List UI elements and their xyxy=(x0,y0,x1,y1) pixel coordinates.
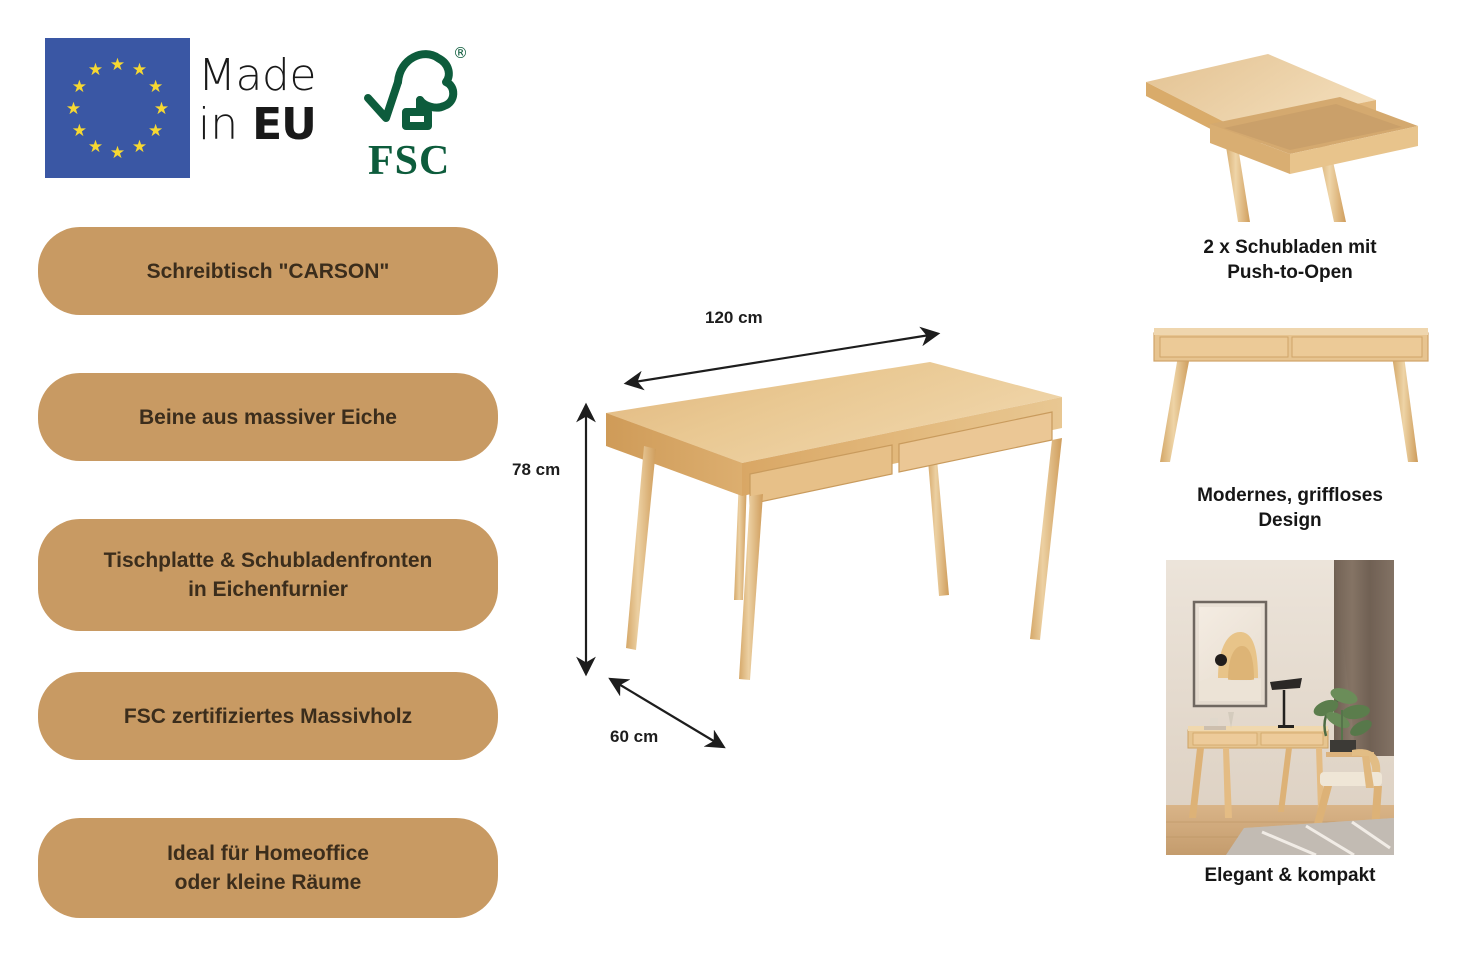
feature-pill-text: Beine aus massiver Eiche xyxy=(139,403,397,432)
open-drawer-detail-photo xyxy=(1140,42,1440,227)
feature-pill: Tischplatte & Schubladenfrontenin Eichen… xyxy=(38,519,498,631)
feature-card-caption: Modernes, griffloses Design xyxy=(1140,483,1440,533)
feature-pill-line: Tischplatte & Schubladenfronten xyxy=(104,546,433,575)
feature-pill-line: Schreibtisch "CARSON" xyxy=(147,257,390,286)
feature-pill-line: Beine aus massiver Eiche xyxy=(139,403,397,432)
feature-pill-line: in Eichenfurnier xyxy=(104,575,433,604)
infographic-page: ★★★★★★★★★★★★ Made in EU ® FSC Schreibtis… xyxy=(0,0,1460,962)
dimension-label-width: 120 cm xyxy=(705,308,763,328)
dimension-diagram: 120 cm 78 cm 60 cm xyxy=(500,290,1100,770)
feature-photo-column: 2 x Schubladen mit Push-to-Open xyxy=(1140,0,1460,962)
feature-pill-text: Tischplatte & Schubladenfrontenin Eichen… xyxy=(104,546,433,604)
feature-pill-text: Schreibtisch "CARSON" xyxy=(147,257,390,286)
room-lifestyle-photo xyxy=(1166,560,1394,855)
feature-pill: Ideal für Homeofficeoder kleine Räume xyxy=(38,818,498,918)
caption-line: Modernes, griffloses xyxy=(1140,483,1440,508)
feature-pill: Beine aus massiver Eiche xyxy=(38,373,498,461)
caption-line: Push-to-Open xyxy=(1140,260,1440,285)
dimension-arrows xyxy=(500,290,1100,770)
feature-card-caption: Elegant & kompakt xyxy=(1140,863,1440,888)
feature-pill-text: Ideal für Homeofficeoder kleine Räume xyxy=(167,839,369,897)
feature-pill-line: Ideal für Homeoffice xyxy=(167,839,369,868)
feature-pill: FSC zertifiziertes Massivholz xyxy=(38,672,498,760)
feature-pill: Schreibtisch "CARSON" xyxy=(38,227,498,315)
desk-front-elevation-photo xyxy=(1140,320,1440,475)
feature-card-drawers: 2 x Schubladen mit Push-to-Open xyxy=(1140,42,1440,285)
dimension-label-height: 78 cm xyxy=(512,460,560,480)
caption-line: 2 x Schubladen mit xyxy=(1140,235,1440,260)
caption-line: Elegant & kompakt xyxy=(1140,863,1440,888)
caption-line: Design xyxy=(1140,508,1440,533)
feature-card-caption: 2 x Schubladen mit Push-to-Open xyxy=(1140,235,1440,285)
feature-card-design: Modernes, griffloses Design xyxy=(1140,320,1440,533)
feature-pill-text: FSC zertifiziertes Massivholz xyxy=(124,702,412,731)
feature-card-room: Elegant & kompakt xyxy=(1140,560,1440,888)
feature-pill-line: FSC zertifiziertes Massivholz xyxy=(124,702,412,731)
feature-pill-list: Schreibtisch "CARSON"Beine aus massiver … xyxy=(0,0,520,962)
feature-pill-line: oder kleine Räume xyxy=(167,868,369,897)
dimension-label-depth: 60 cm xyxy=(610,727,658,747)
